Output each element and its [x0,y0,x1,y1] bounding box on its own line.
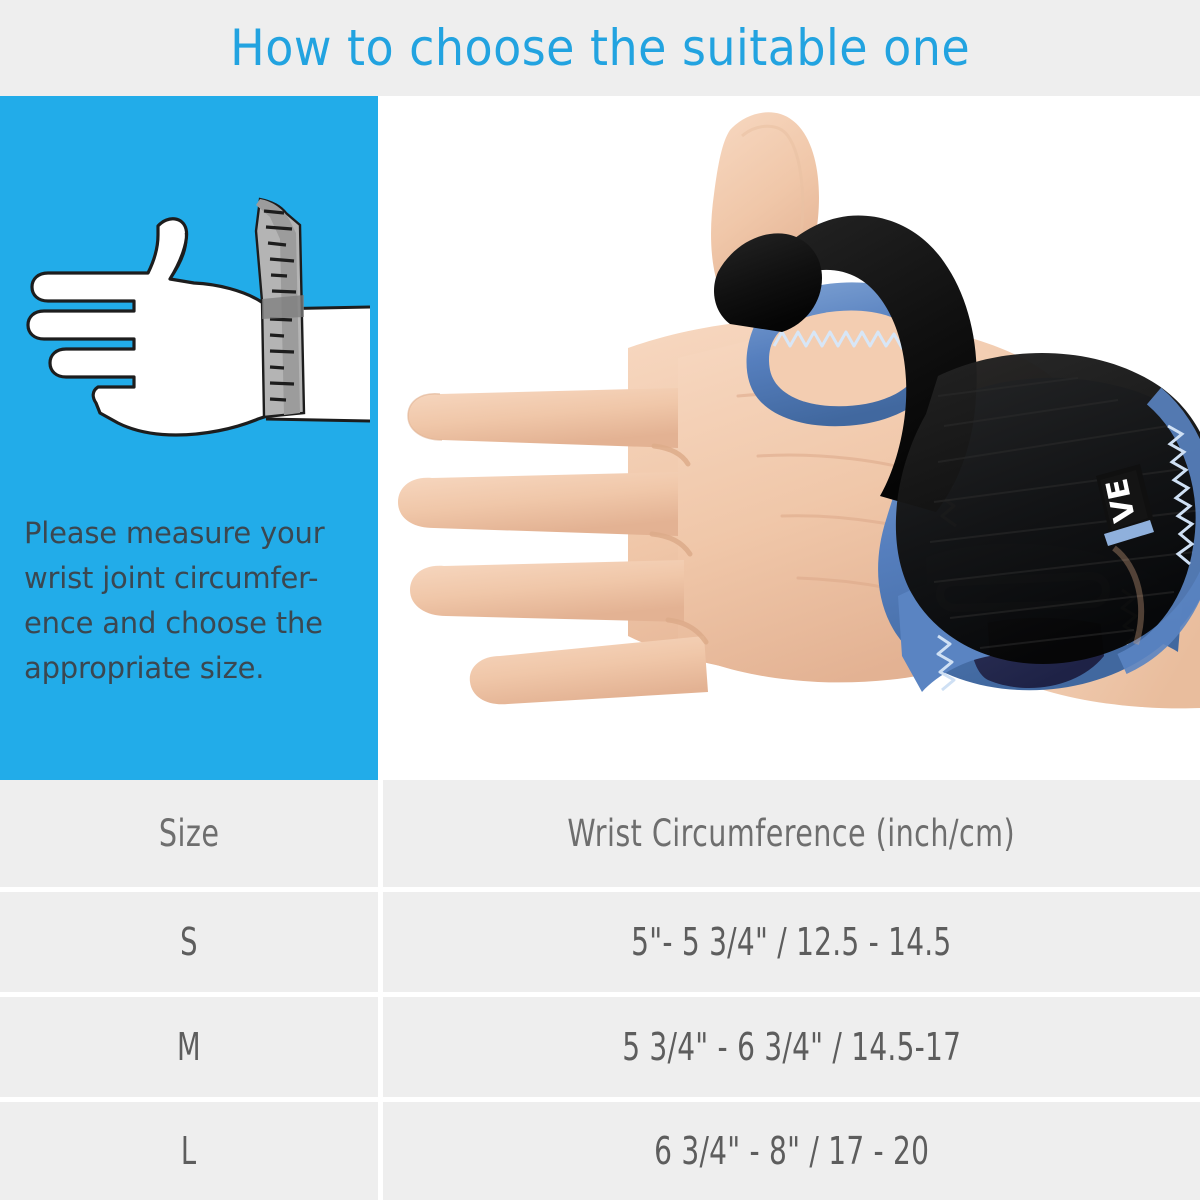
page-title: How to choose the suitable one [230,23,970,73]
circumference-value-m: 5 3/4" - 6 3/4" / 14.5-17 [622,1025,961,1069]
header-band: How to choose the suitable one [0,0,1200,96]
instruction-line-3: ence and choose the [24,601,364,646]
column-header-size: Size [159,812,220,855]
instruction-line-4: appropriate size. [24,646,364,691]
size-chart-table: Size Wrist Circumference (inch/cm) S 5"-… [0,780,1200,1200]
table-header-cell-size: Size [0,780,378,887]
circumference-value-l: 6 3/4" - 8" / 17 - 20 [654,1129,929,1173]
column-header-circumference: Wrist Circumference (inch/cm) [568,812,1016,855]
instruction-line-2: wrist joint circumfer- [24,556,364,601]
table-cell-size-s: S [0,892,378,992]
table-cell-size-l: L [0,1102,378,1200]
table-row: M 5 3/4" - 6 3/4" / 14.5-17 [0,997,1200,1097]
table-row: S 5"- 5 3/4" / 12.5 - 14.5 [0,892,1200,992]
table-cell-size-m: M [0,997,378,1097]
table-header-row: Size Wrist Circumference (inch/cm) [0,780,1200,887]
hand-with-measuring-tape-illustration [8,191,370,481]
table-row: L 6 3/4" - 8" / 17 - 20 [0,1102,1200,1200]
measure-instruction-text: Please measure your wrist joint circumfe… [24,511,364,691]
product-photo-area: VE [378,96,1200,780]
circumference-value-s: 5"- 5 3/4" / 12.5 - 14.5 [631,920,951,964]
instruction-line-1: Please measure your [24,511,364,556]
measure-instruction-panel: Please measure your wrist joint circumfe… [0,96,378,780]
table-cell-circumference-m: 5 3/4" - 6 3/4" / 14.5-17 [383,997,1200,1097]
table-header-cell-circumference: Wrist Circumference (inch/cm) [383,780,1200,887]
table-cell-circumference-l: 6 3/4" - 8" / 17 - 20 [383,1102,1200,1200]
table-cell-circumference-s: 5"- 5 3/4" / 12.5 - 14.5 [383,892,1200,992]
size-label-s: S [180,920,197,964]
infographic-page: How to choose the suitable one [0,0,1200,1200]
size-label-l: L [181,1129,196,1173]
size-label-m: M [177,1025,201,1069]
thumb-splint-product-photo: VE [378,96,1200,780]
